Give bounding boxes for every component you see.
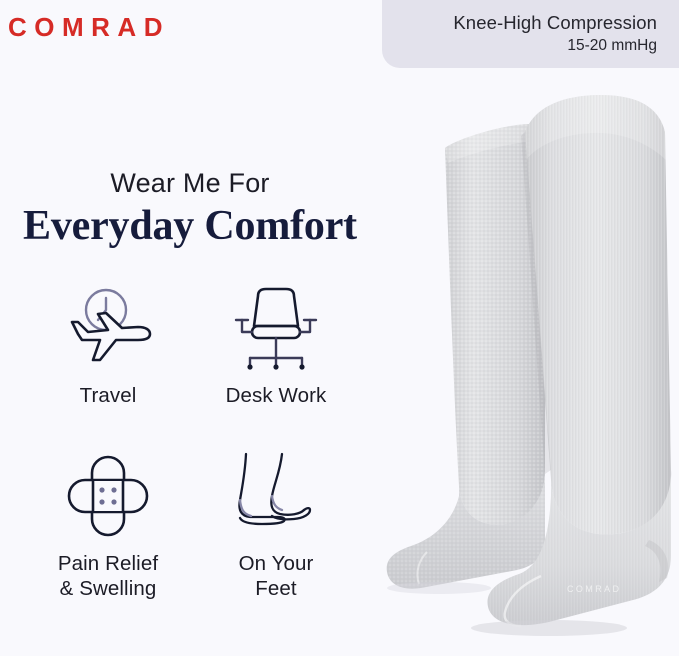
feet-icon — [224, 450, 328, 544]
benefit-label: On Your Feet — [239, 551, 314, 601]
benefit-label: Desk Work — [226, 383, 327, 408]
headline-main: Everyday Comfort — [0, 202, 380, 252]
benefit-travel: Travel — [24, 282, 192, 408]
headline-block: Wear Me For Everyday Comfort — [0, 168, 380, 252]
brand-logo: COMRAD — [8, 14, 170, 40]
product-marketing-image: COMRAD Knee-High Compression 15-20 mmHg … — [0, 0, 679, 656]
benefit-label: Pain Relief & Swelling — [58, 551, 158, 601]
benefits-grid: Travel Desk Wo — [24, 282, 360, 601]
airplane-clock-icon — [56, 282, 160, 376]
headline-eyebrow: Wear Me For — [0, 168, 380, 198]
office-chair-icon — [224, 282, 328, 376]
product-photo: COMRAD — [349, 0, 679, 656]
bandage-icon — [56, 450, 160, 544]
benefit-label: Travel — [80, 383, 137, 408]
benefit-pain-relief: Pain Relief & Swelling — [24, 450, 192, 601]
sock-brand-mark: COMRAD — [567, 584, 621, 594]
benefit-on-your-feet: On Your Feet — [192, 450, 360, 601]
benefit-desk-work: Desk Work — [192, 282, 360, 408]
